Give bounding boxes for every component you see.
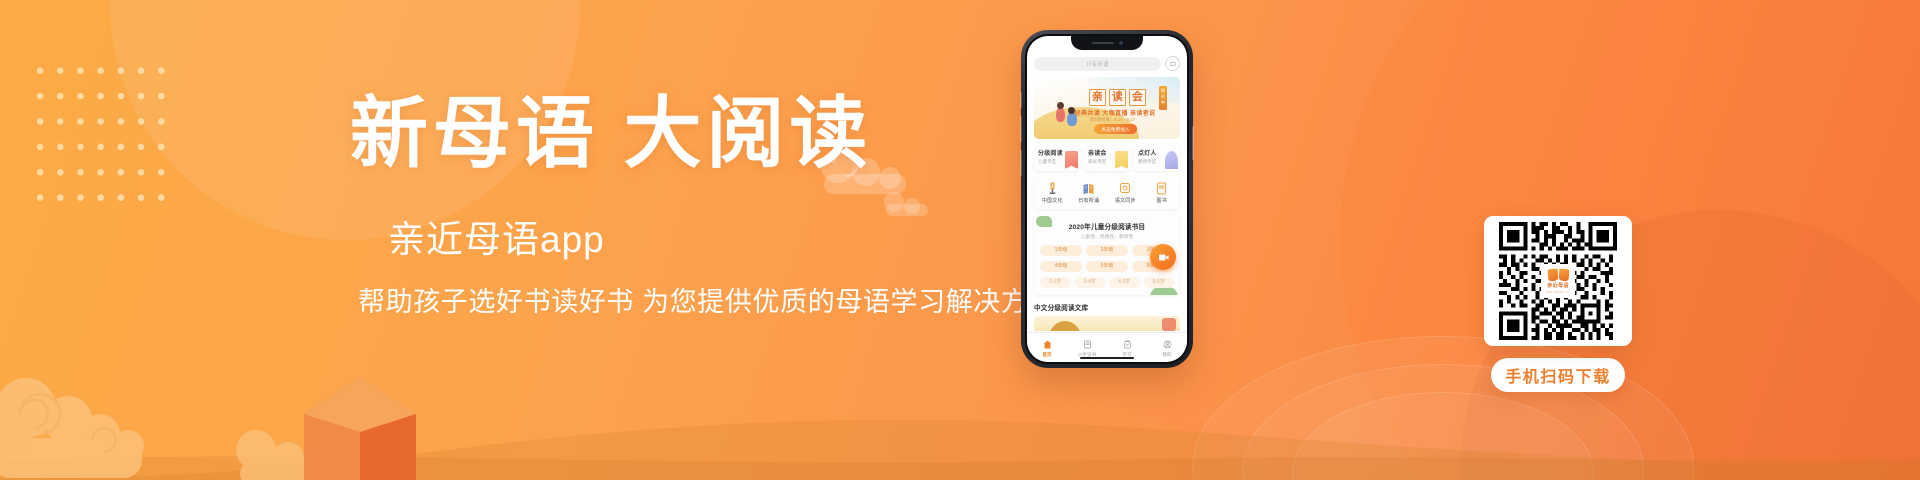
search-placeholder: 日有所诵 [1086,60,1109,68]
quick-link-label: 中国文化 [1034,197,1071,204]
library-arc-decoration [1048,321,1082,331]
hero-banner-card[interactable]: 亲 读 会 报名中 经典共读 大咖直播 亲读者说 第8期招募：9.16 - 9.… [1034,77,1180,139]
brand-name-cn: 亲近母语 [1547,282,1569,289]
quick-link-daily-recitation[interactable]: 日有所诵 [1071,182,1108,204]
scan-to-download-button[interactable]: 手机扫码下载 [1491,358,1625,392]
books-icon [1144,182,1181,195]
book-open-icon [1071,182,1108,195]
tab-reading[interactable]: 小步读书 [1067,339,1107,358]
brand-name-en: QIN JIN MU YU [1546,290,1570,294]
phone-mockup: 日有所诵 [1021,30,1193,368]
auspicious-cloud-left-icon [0,368,192,478]
age-chip[interactable]: 4-5岁 [1109,277,1140,288]
copy-block: 新母语 大阅读 亲近母语app 帮助孩子选好书读好书 为您提供优质的母语学习解决… [350,86,1050,321]
hero-date-range: 第8期招募：9.16 - 9.27 [1090,117,1135,123]
reading-icon [1067,339,1107,350]
quick-link-books[interactable]: 图书 [1144,182,1181,204]
brand-mark-icon [1548,269,1569,281]
auspicious-cloud-mid-icon [228,420,348,480]
phone-volume-down-button [1020,150,1022,176]
hero-subtitle: 经典共读 大咖直播 亲读者说 [1075,108,1156,117]
tab-home[interactable]: 首页 [1027,339,1067,358]
booklist-card: 2020年儿童分级阅读书目 儿童性、经典性、教育性 1年级 2年级 3年级 4年… [1034,214,1180,295]
message-icon[interactable] [1165,56,1180,71]
hero-ribbon-badge: 报名中 [1159,86,1167,110]
bookmark-icon [1065,151,1078,169]
tab-label: 我的 [1147,352,1187,358]
phone-bezel: 日有所诵 [1025,34,1189,364]
library-tab-decoration [1162,318,1176,331]
culture-icon [1034,182,1071,195]
study-icon [1107,339,1147,350]
dot-grid-pattern [30,58,176,216]
earpiece-speaker-icon [1092,42,1114,45]
illustration-child-red [1056,107,1065,122]
hero-char: 会 [1129,89,1146,106]
booklist-subtitle: 儿童性、经典性、教育性 [1040,233,1174,240]
brand-logo: 亲近母语 QIN JIN MU YU [1541,264,1575,298]
tab-profile[interactable]: 我的 [1147,339,1187,358]
age-chip[interactable]: 5-6岁 [1144,277,1175,288]
front-camera-icon [1119,41,1123,45]
library-section-title: 中文分级阅读文库 [1034,302,1180,312]
quick-link-chinese-culture[interactable]: 中国文化 [1034,182,1071,204]
category-card-parent-club[interactable]: 亲读会 家长专区 [1084,144,1130,171]
phone-notch [1071,36,1143,50]
dune-silhouette [0,350,1920,480]
age-chip[interactable]: 3-4岁 [1075,277,1106,288]
hero-char: 亲 [1089,89,1106,106]
library-card[interactable] [1034,316,1180,331]
app-name-subtitle: 亲近母语app [388,216,1050,264]
promo-banner: 新母语 大阅读 亲近母语app 帮助孩子选好书读好书 为您提供优质的母语学习解决… [0,0,1920,480]
grade-chip[interactable]: 2年级 [1086,245,1128,256]
hero-title-characters: 亲 读 会 [1089,89,1146,106]
page-title: 新母语 大阅读 [350,86,1050,182]
decorative-ring-inner [1292,392,1594,480]
play-video-icon[interactable] [1150,244,1176,270]
person-icon [1165,151,1178,169]
booklist-title: 2020年儿童分级阅读书目 [1040,221,1174,231]
hero-cta-button[interactable]: 点击免费加入 [1094,124,1137,134]
age-chip-row: 0-3岁 3-4岁 4-5岁 5-6岁 [1040,277,1174,288]
phone-mute-switch [1020,92,1022,108]
phone-screen: 日有所诵 [1027,36,1187,362]
grade-chip[interactable]: 4年级 [1040,261,1082,272]
app-searchbar: 日有所诵 [1034,56,1180,71]
age-chip[interactable]: 0-3岁 [1040,277,1071,288]
category-cards: 分级阅读 儿童专区 亲读会 家长专区 点灯人 教师专区 [1034,144,1180,171]
app-content: 日有所诵 [1027,36,1187,331]
qr-code-card[interactable]: 亲近母语 QIN JIN MU YU [1484,216,1632,346]
illustration-child-red-head [1057,102,1064,109]
category-card-graded-reading[interactable]: 分级阅读 儿童专区 [1034,144,1080,171]
home-icon [1027,339,1067,350]
grade-chip[interactable]: 1年级 [1040,245,1082,256]
quick-link-label: 语文同步 [1107,197,1144,204]
download-block: 亲近母语 QIN JIN MU YU 手机扫码下载 [1484,216,1632,392]
grade-chip[interactable]: 5年级 [1086,261,1128,272]
decorative-cube [300,368,420,480]
search-input[interactable]: 日有所诵 [1034,57,1161,71]
tagline: 帮助孩子选好书读好书 为您提供优质的母语学习解决方案 [358,283,1050,321]
quick-link-label: 图书 [1144,197,1181,204]
sync-icon [1107,182,1144,195]
tab-study[interactable]: 学习 [1107,339,1147,358]
category-card-teacher[interactable]: 点灯人 教师专区 [1134,144,1180,171]
ground-strip [0,444,1920,480]
phone-power-button [1192,126,1194,160]
tab-label: 首页 [1027,352,1067,358]
hero-char: 读 [1109,89,1126,106]
bookmark-icon [1115,151,1128,169]
quick-link-textbook-sync[interactable]: 语文同步 [1107,182,1144,204]
quick-link-label: 日有所诵 [1071,197,1108,204]
quick-links-row: 中国文化 日有所诵 [1034,176,1180,209]
profile-icon [1147,339,1187,350]
phone-volume-up-button [1020,116,1022,142]
leaf-decoration-icon [1150,287,1178,295]
